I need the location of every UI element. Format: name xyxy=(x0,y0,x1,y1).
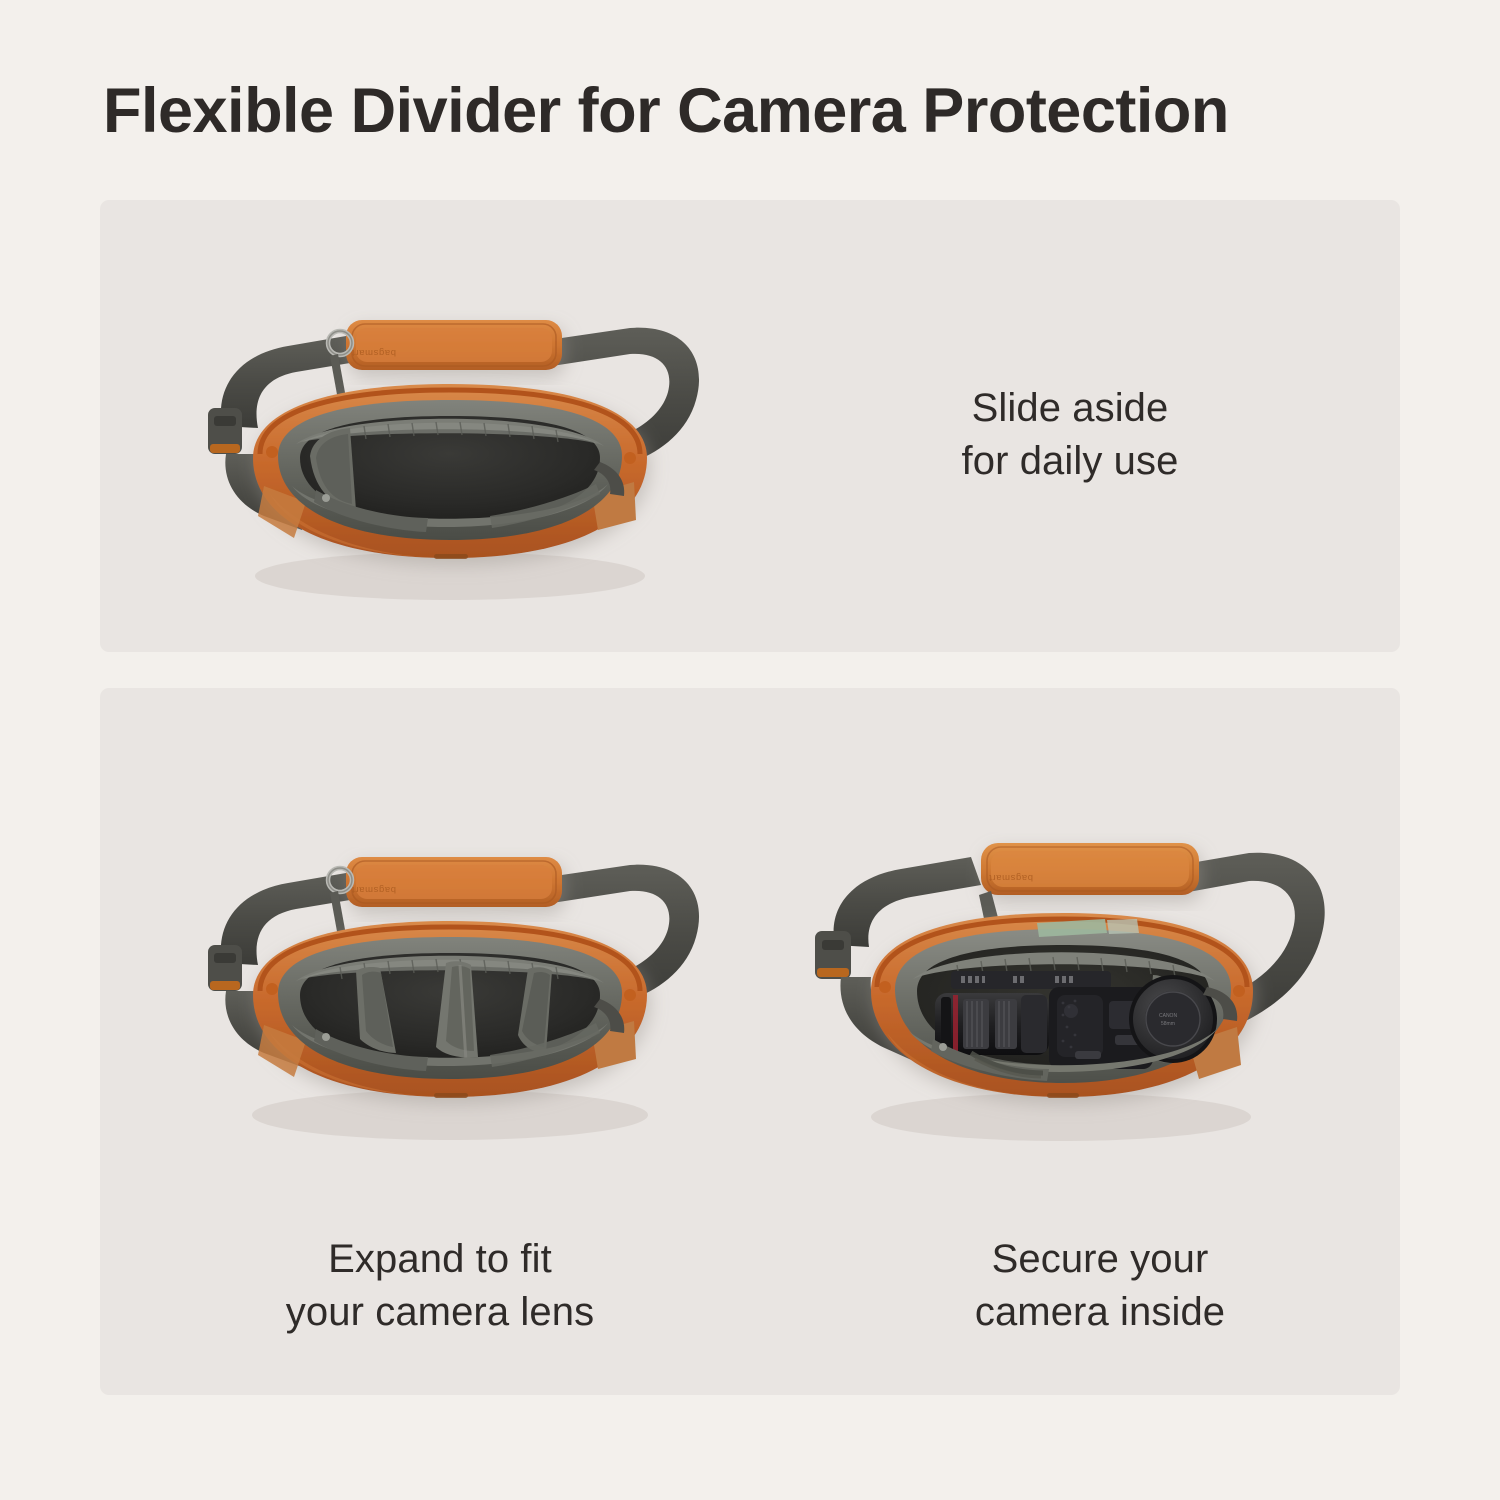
caption-line-2: camera inside xyxy=(905,1286,1295,1339)
caption-line-2: for daily use xyxy=(905,435,1235,488)
svg-text:CANON: CANON xyxy=(1159,1013,1177,1019)
caption-line-1: Secure your xyxy=(905,1233,1295,1286)
caption-slide-aside: Slide aside for daily use xyxy=(905,382,1235,488)
sling-bag-with-camera-inside-photo: bagsmart xyxy=(775,795,1345,1155)
page-title: Flexible Divider for Camera Protection xyxy=(103,78,1423,144)
svg-text:58mm: 58mm xyxy=(1161,1021,1175,1027)
svg-text:bagsmart: bagsmart xyxy=(352,347,396,358)
svg-text:bagsmart: bagsmart xyxy=(989,872,1033,883)
sling-bag-divider-slid-aside-photo: bagsmart xyxy=(160,258,730,618)
svg-text:bagsmart: bagsmart xyxy=(352,884,396,895)
caption-line-2: your camera lens xyxy=(245,1286,635,1339)
caption-expand-to-fit: Expand to fit your camera lens xyxy=(245,1233,635,1339)
caption-line-1: Slide aside xyxy=(905,382,1235,435)
caption-line-1: Expand to fit xyxy=(245,1233,635,1286)
sling-bag-divider-expanded-photo: bagsmart xyxy=(160,795,730,1155)
infographic-page: Flexible Divider for Camera Protection xyxy=(0,0,1500,1500)
caption-secure-your-camera: Secure your camera inside xyxy=(905,1233,1295,1339)
